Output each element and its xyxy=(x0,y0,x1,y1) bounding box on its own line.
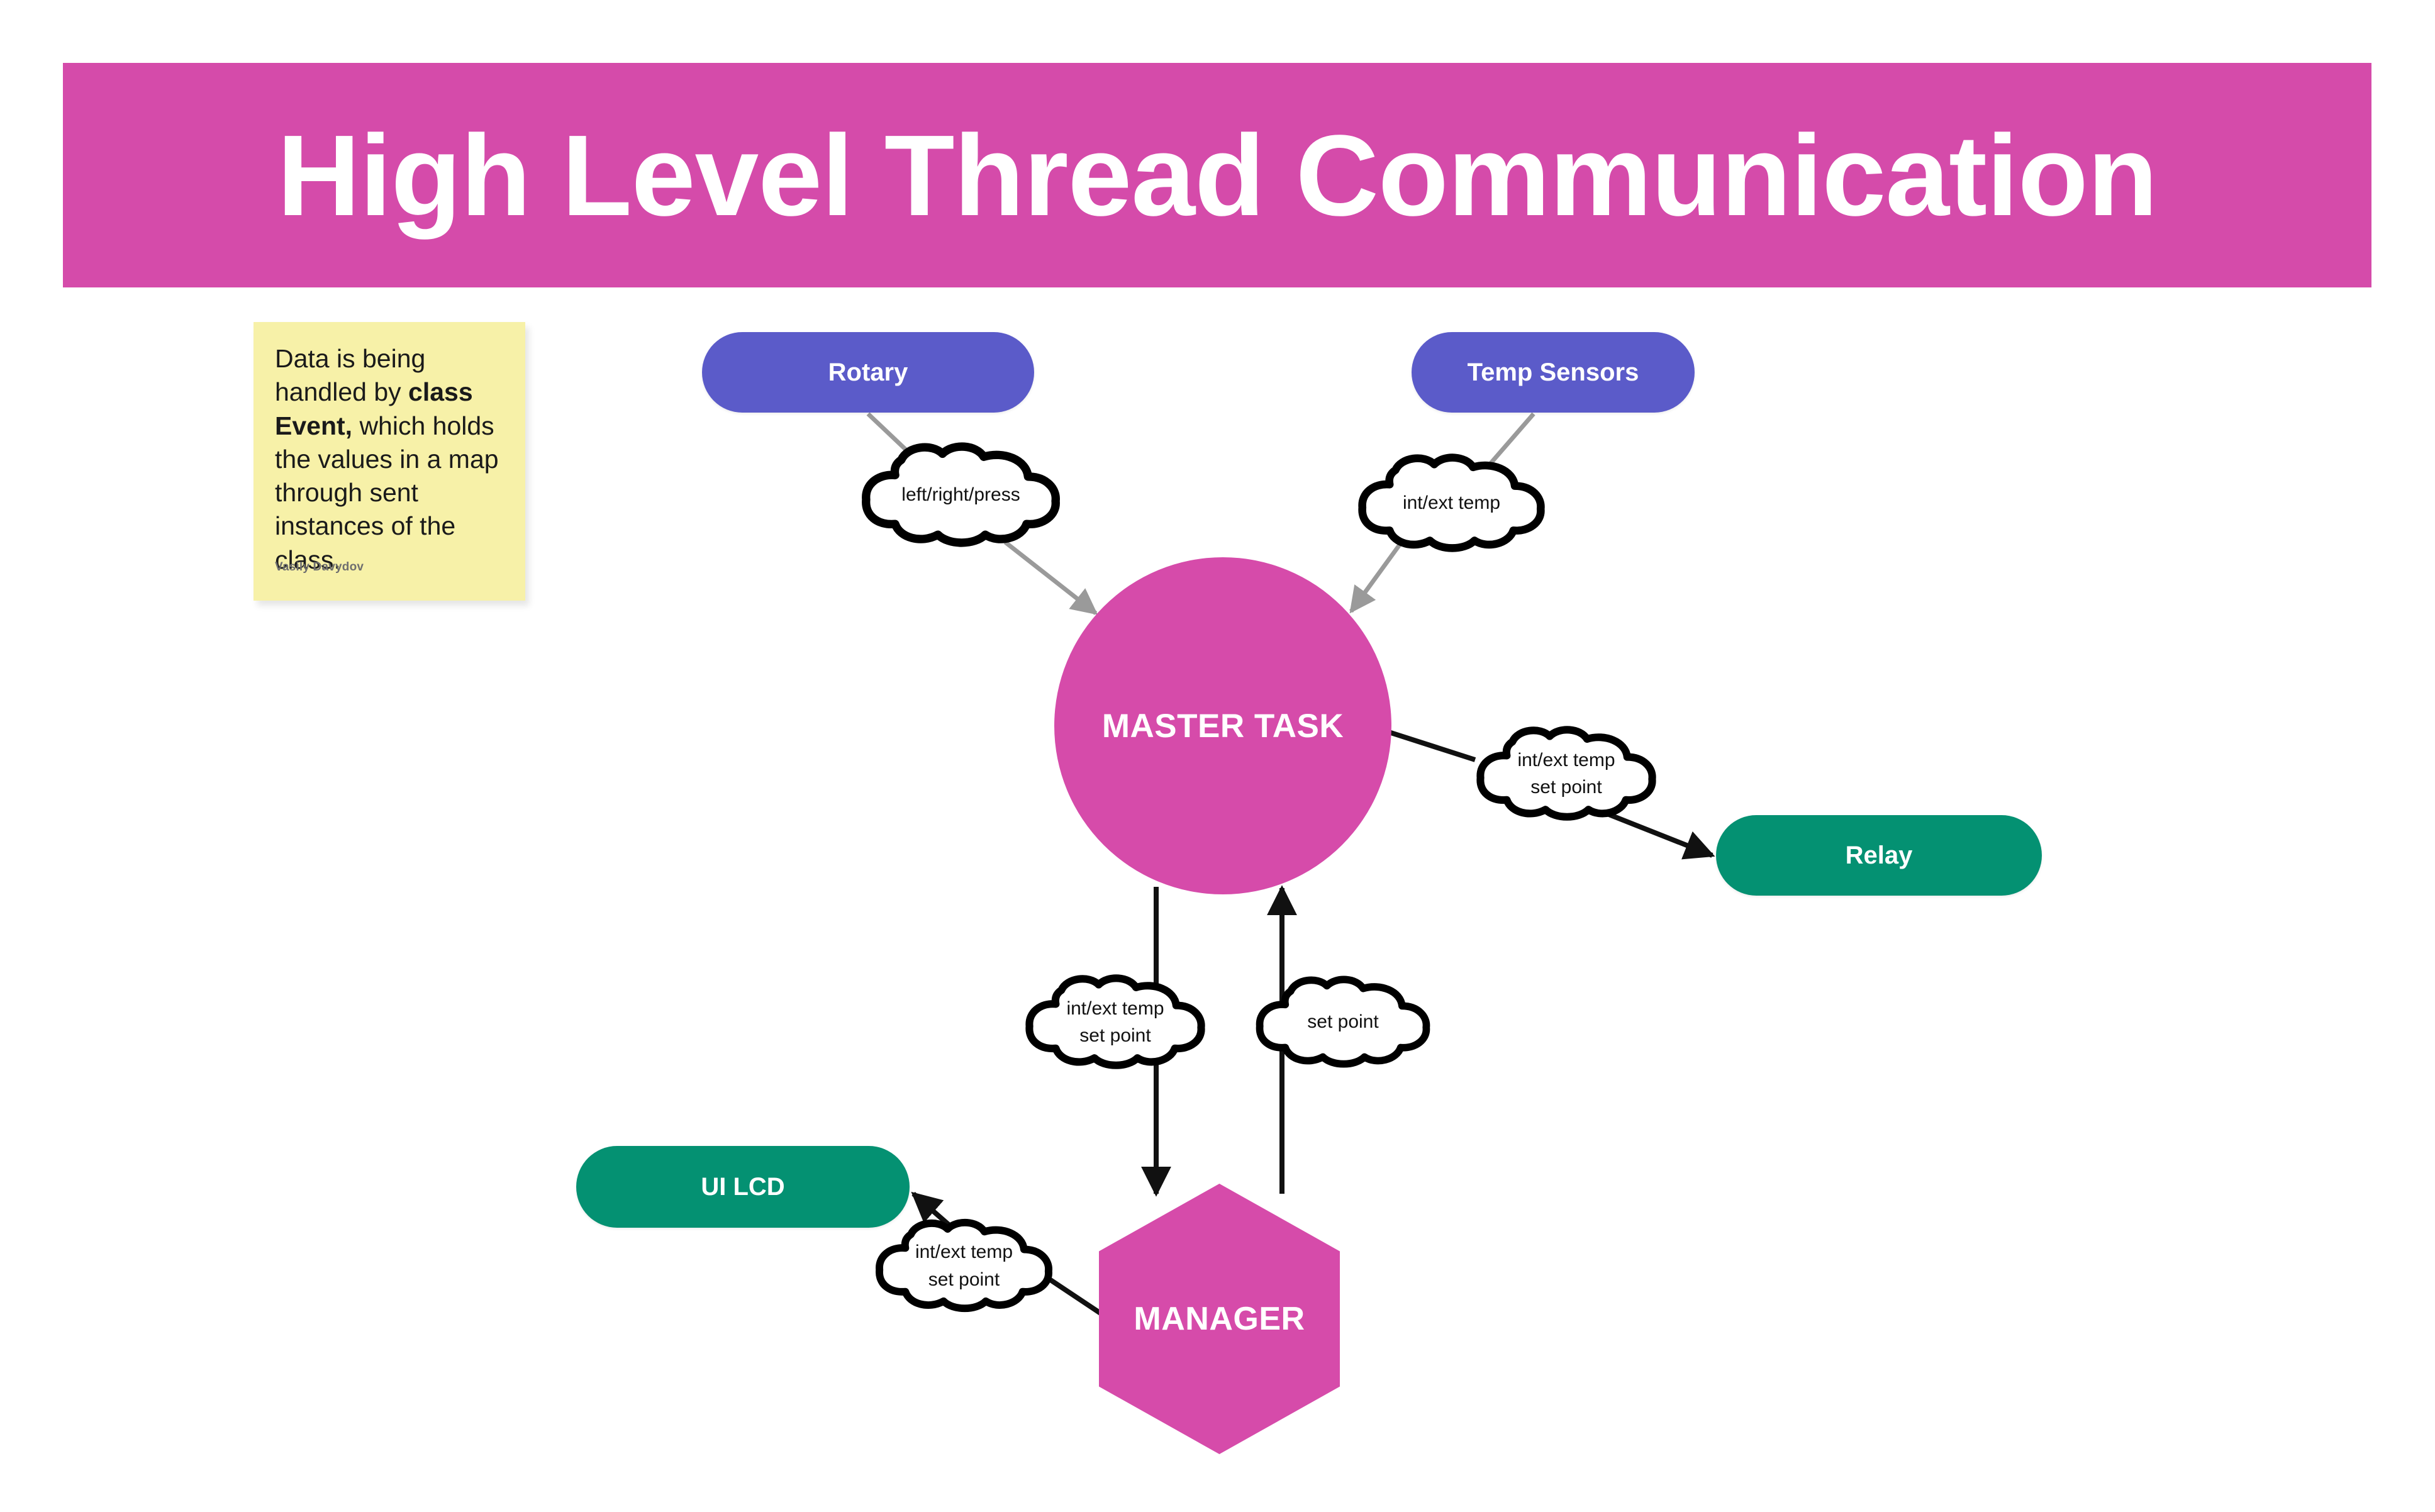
cloud-shape-icon xyxy=(1463,723,1670,824)
node-ui-lcd-label: UI LCD xyxy=(701,1173,784,1201)
node-master-task-label: MASTER TASK xyxy=(1102,707,1344,745)
node-manager-label: MANAGER xyxy=(1134,1300,1305,1338)
node-rotary-label: Rotary xyxy=(828,359,908,387)
sticky-note-text: Data is being handled by class Event, wh… xyxy=(275,342,504,577)
cloud-shape-icon xyxy=(862,1214,1066,1318)
node-temp-sensors[interactable]: Temp Sensors xyxy=(1412,332,1695,413)
cloud-rotary-message[interactable]: left/right/press xyxy=(846,442,1076,548)
node-manager[interactable]: MANAGER xyxy=(1099,1184,1340,1454)
cloud-shape-icon xyxy=(1343,453,1560,553)
edge-cloud-to-master-task xyxy=(1005,542,1096,613)
cloud-master-to-manager-message[interactable]: int/ext temp set point xyxy=(1011,969,1219,1076)
cloud-shape-icon xyxy=(846,442,1076,548)
node-master-task[interactable]: MASTER TASK xyxy=(1054,557,1391,894)
cloud-shape-icon xyxy=(1242,972,1444,1072)
cloud-manager-to-lcd-message[interactable]: int/ext temp set point xyxy=(862,1214,1066,1318)
cloud-relay-message[interactable]: int/ext temp set point xyxy=(1463,723,1670,824)
sticky-note-author: Vasily Davydov xyxy=(275,560,364,574)
cloud-temp-message[interactable]: int/ext temp xyxy=(1343,453,1560,553)
page-title: High Level Thread Communication xyxy=(277,118,2158,233)
cloud-shape-icon xyxy=(1011,969,1219,1076)
sticky-note[interactable]: Data is being handled by class Event, wh… xyxy=(254,322,525,601)
node-relay[interactable]: Relay xyxy=(1716,815,2042,896)
cloud-manager-to-master-message[interactable]: set point xyxy=(1242,972,1444,1072)
title-banner: High Level Thread Communication xyxy=(63,63,2371,287)
node-relay-label: Relay xyxy=(1846,842,1913,870)
diagram-canvas: High Level Thread Communication Data is … xyxy=(0,0,2435,1512)
node-temp-sensors-label: Temp Sensors xyxy=(1468,359,1639,387)
node-ui-lcd[interactable]: UI LCD xyxy=(576,1146,910,1228)
sticky-note-text-part1: Data is being handled by xyxy=(275,344,425,406)
node-rotary[interactable]: Rotary xyxy=(702,332,1034,413)
